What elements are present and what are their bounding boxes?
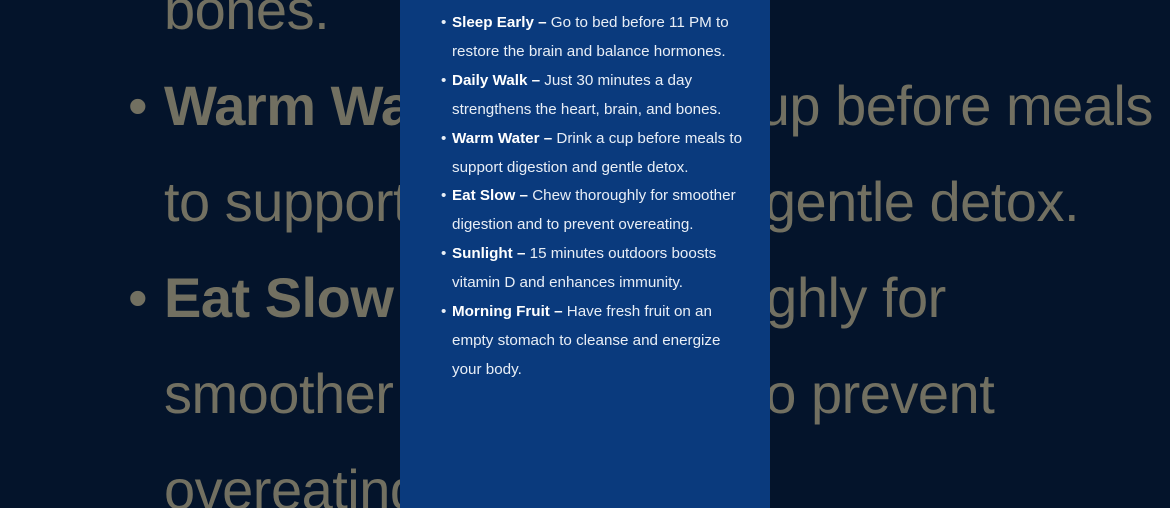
health-tip-dash: – xyxy=(550,303,567,320)
background-text-rest: overeating. xyxy=(164,458,436,508)
health-tip-item: Eat Slow – Chew thoroughly for smoother … xyxy=(441,182,748,240)
health-tips-list: Sleep Early – Go to bed before 11 PM to … xyxy=(400,0,770,385)
health-tip-term: Sleep Early xyxy=(452,14,534,31)
health-tip-item: Morning Fruit – Have fresh fruit on an e… xyxy=(441,298,748,385)
background-text-term: Eat Slow xyxy=(164,266,393,329)
health-tip-dash: – xyxy=(534,14,551,31)
health-tip-dash: – xyxy=(539,130,556,147)
health-tip-term: Sunlight xyxy=(452,245,513,262)
health-tip-item: Sunlight – 15 minutes outdoors boosts vi… xyxy=(441,240,748,298)
health-tip-term: Warm Water xyxy=(452,130,539,147)
health-tip-dash: – xyxy=(513,245,530,262)
health-tip-dash: – xyxy=(527,72,544,89)
screenshot-root: bones.Warm Water – Drink a cup before me… xyxy=(0,0,1170,508)
health-tip-item: Sleep Early – Go to bed before 11 PM to … xyxy=(441,9,748,67)
health-tip-dash: – xyxy=(515,187,532,204)
health-tip-term: Eat Slow xyxy=(452,187,515,204)
background-text-rest: bones. xyxy=(164,0,329,41)
health-tip-item: Daily Walk – Just 30 minutes a day stren… xyxy=(441,67,748,125)
health-tip-term: Daily Walk xyxy=(452,72,527,89)
tips-card-panel: Sleep Early – Go to bed before 11 PM to … xyxy=(400,0,770,508)
health-tip-term: Morning Fruit xyxy=(452,303,550,320)
health-tip-item: Warm Water – Drink a cup before meals to… xyxy=(441,125,748,183)
